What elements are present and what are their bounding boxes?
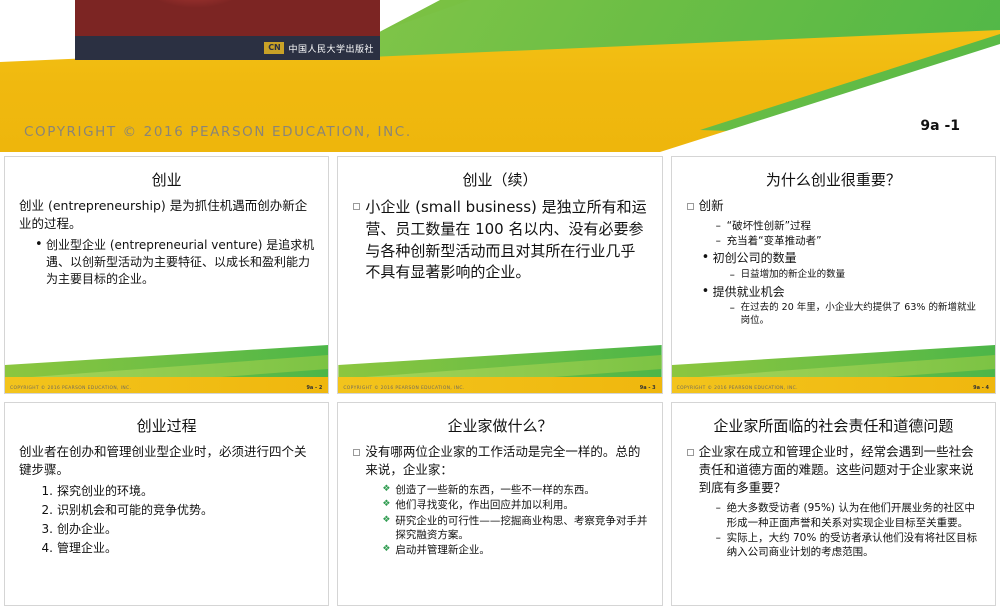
banner-copyright: COPYRIGHT © 2016 PEARSON EDUCATION, INC. (24, 124, 412, 140)
slide-3-footer-band: COPYRIGHT © 2016 PEARSON EDUCATION, INC.… (672, 339, 995, 393)
cover-photo: CN 中国人民大学出版社 (75, 0, 380, 60)
slide-cell-1: 创业 创业 (entrepreneurship) 是为抓住机遇而创办新企业的过程… (0, 152, 333, 398)
slide-title-3: 为什么创业很重要？ (682, 171, 985, 189)
slide-cell-3: 为什么创业很重要？ 创新 “破坏性创新”过程 充当着“变革推动者” 初创公司的数… (667, 152, 1000, 398)
slide-2-number: 9a - 3 (640, 385, 656, 391)
slide-title-6: 企业家所面临的社会责任和道德问题 (682, 417, 985, 435)
publisher-name: 中国人民大学出版社 (288, 42, 374, 55)
slide-3-number: 9a - 4 (973, 385, 989, 391)
publisher-bar: CN 中国人民大学出版社 (75, 36, 380, 60)
slide-2-copyright: COPYRIGHT © 2016 PEARSON EDUCATION, INC. (343, 386, 464, 391)
slide-title-1: 创业 (15, 171, 318, 189)
slide-3-line-2: 充当着“变革推动者” (716, 234, 981, 248)
slide-4-line-2: 2.识别机会和可能的竞争优势。 (35, 502, 314, 519)
slide-6-line-0: 企业家在成立和管理企业时，经常会遇到一些社会责任和道德方面的难题。这些问题对于企… (686, 443, 981, 497)
slide-cell-6: 企业家所面临的社会责任和道德问题 企业家在成立和管理企业时，经常会遇到一些社会责… (667, 398, 1000, 610)
slide-1-line-1: 创业型企业 (entrepreneurial venture) 是追求机遇、以创… (35, 237, 314, 287)
slide-thumbnail-1[interactable]: 创业 创业 (entrepreneurship) 是为抓住机遇而创办新企业的过程… (4, 156, 329, 394)
slide-body-1: 创业 (entrepreneurship) 是为抓住机遇而创办新企业的过程。 创… (5, 197, 328, 288)
slide-body-3: 创新 “破坏性创新”过程 充当着“变革推动者” 初创公司的数量 日益增加的新企业… (672, 197, 995, 327)
slide-cell-2: 创业（续） 小企业 (small business) 是独立所有和运营、员工数量… (333, 152, 666, 398)
slide-4-line-1-text: 探究创业的环境。 (57, 484, 153, 498)
slide-title-4: 创业过程 (15, 417, 318, 435)
slide-5-line-3: 研究企业的可行性——挖掘商业构思、考察竞争对手并探究融资方案。 (382, 514, 647, 542)
slide-thumbnail-3[interactable]: 为什么创业很重要？ 创新 “破坏性创新”过程 充当着“变革推动者” 初创公司的数… (671, 156, 996, 394)
slide-6-line-1: 绝大多数受访者 (95%) 认为在他们开展业务的社区中形成一种正面声誉和关系对实… (716, 501, 981, 529)
slide-1-footer-band: COPYRIGHT © 2016 PEARSON EDUCATION, INC.… (5, 339, 328, 393)
slide-4-line-4-number: 4. (35, 540, 53, 557)
slide-1-number: 9a - 2 (306, 385, 322, 391)
slide-3-line-6: 在过去的 20 年里，小企业大约提供了 63% 的新增就业岗位。 (730, 302, 981, 327)
slide-2-line-0: 小企业 (small business) 是独立所有和运营、员工数量在 100 … (352, 197, 647, 284)
title-slide-banner: CN 中国人民大学出版社 COPYRIGHT © 2016 PEARSON ED… (0, 0, 1000, 152)
slide-4-line-2-text: 识别机会和可能的竞争优势。 (57, 503, 213, 517)
slide-thumbnail-2[interactable]: 创业（续） 小企业 (small business) 是独立所有和运营、员工数量… (337, 156, 662, 394)
slide-4-line-3-text: 创办企业。 (57, 522, 117, 536)
slide-thumbnail-4[interactable]: 创业过程 创业者在创办和管理创业型企业时，必须进行四个关键步骤。 1.探究创业的… (4, 402, 329, 606)
slide-body-2: 小企业 (small business) 是独立所有和运营、员工数量在 100 … (338, 197, 661, 284)
slide-5-line-2: 他们寻找变化，作出回应并加以利用。 (382, 498, 647, 512)
slide-thumbnail-grid: 创业 创业 (entrepreneurship) 是为抓住机遇而创办新企业的过程… (0, 152, 1000, 600)
banner-slide-number: 9a -1 (920, 118, 960, 134)
slide-title-2: 创业（续） (348, 171, 651, 189)
slide-3-line-1: “破坏性创新”过程 (716, 219, 981, 233)
slide-4-line-0: 创业者在创办和管理创业型企业时，必须进行四个关键步骤。 (19, 443, 314, 479)
slide-5-line-0: 没有哪两位企业家的工作活动是完全一样的。总的来说，企业家： (352, 443, 647, 479)
slide-4-line-3: 3.创办企业。 (35, 521, 314, 538)
slide-5-line-1: 创造了一些新的东西，一些不一样的东西。 (382, 483, 647, 497)
slide-1-line-0: 创业 (entrepreneurship) 是为抓住机遇而创办新企业的过程。 (19, 197, 314, 233)
slide-4-line-1-number: 1. (35, 483, 53, 500)
slide-thumbnail-6[interactable]: 企业家所面临的社会责任和道德问题 企业家在成立和管理企业时，经常会遇到一些社会责… (671, 402, 996, 606)
slide-cell-4: 创业过程 创业者在创办和管理创业型企业时，必须进行四个关键步骤。 1.探究创业的… (0, 398, 333, 610)
publisher-logo-icon: CN (264, 42, 284, 54)
slide-6-line-2: 实际上，大约 70% 的受访者承认他们没有将社区目标纳入公司商业计划的考虑范围。 (716, 531, 981, 559)
slide-4-line-2-number: 2. (35, 502, 53, 519)
slide-3-line-3: 初创公司的数量 (702, 250, 981, 267)
slide-3-line-0: 创新 (686, 197, 981, 215)
slide-body-4: 创业者在创办和管理创业型企业时，必须进行四个关键步骤。 1.探究创业的环境。 2… (5, 443, 328, 556)
slide-body-5: 没有哪两位企业家的工作活动是完全一样的。总的来说，企业家： 创造了一些新的东西，… (338, 443, 661, 557)
slide-cell-5: 企业家做什么？ 没有哪两位企业家的工作活动是完全一样的。总的来说，企业家： 创造… (333, 398, 666, 610)
slide-4-line-4-text: 管理企业。 (57, 541, 117, 555)
slide-4-line-3-number: 3. (35, 521, 53, 538)
slide-3-line-4: 日益增加的新企业的数量 (730, 269, 981, 281)
slide-4-line-1: 1.探究创业的环境。 (35, 483, 314, 500)
slide-4-line-4: 4.管理企业。 (35, 540, 314, 557)
presentation-page: CN 中国人民大学出版社 COPYRIGHT © 2016 PEARSON ED… (0, 0, 1000, 600)
slide-1-copyright: COPYRIGHT © 2016 PEARSON EDUCATION, INC. (10, 386, 131, 391)
slide-5-line-4: 启动并管理新企业。 (382, 543, 647, 557)
slide-2-footer-band: COPYRIGHT © 2016 PEARSON EDUCATION, INC.… (338, 339, 661, 393)
slide-title-5: 企业家做什么？ (348, 417, 651, 435)
slide-thumbnail-5[interactable]: 企业家做什么？ 没有哪两位企业家的工作活动是完全一样的。总的来说，企业家： 创造… (337, 402, 662, 606)
slide-3-line-5: 提供就业机会 (702, 284, 981, 301)
slide-3-copyright: COPYRIGHT © 2016 PEARSON EDUCATION, INC. (677, 386, 798, 391)
slide-body-6: 企业家在成立和管理企业时，经常会遇到一些社会责任和道德方面的难题。这些问题对于企… (672, 443, 995, 559)
